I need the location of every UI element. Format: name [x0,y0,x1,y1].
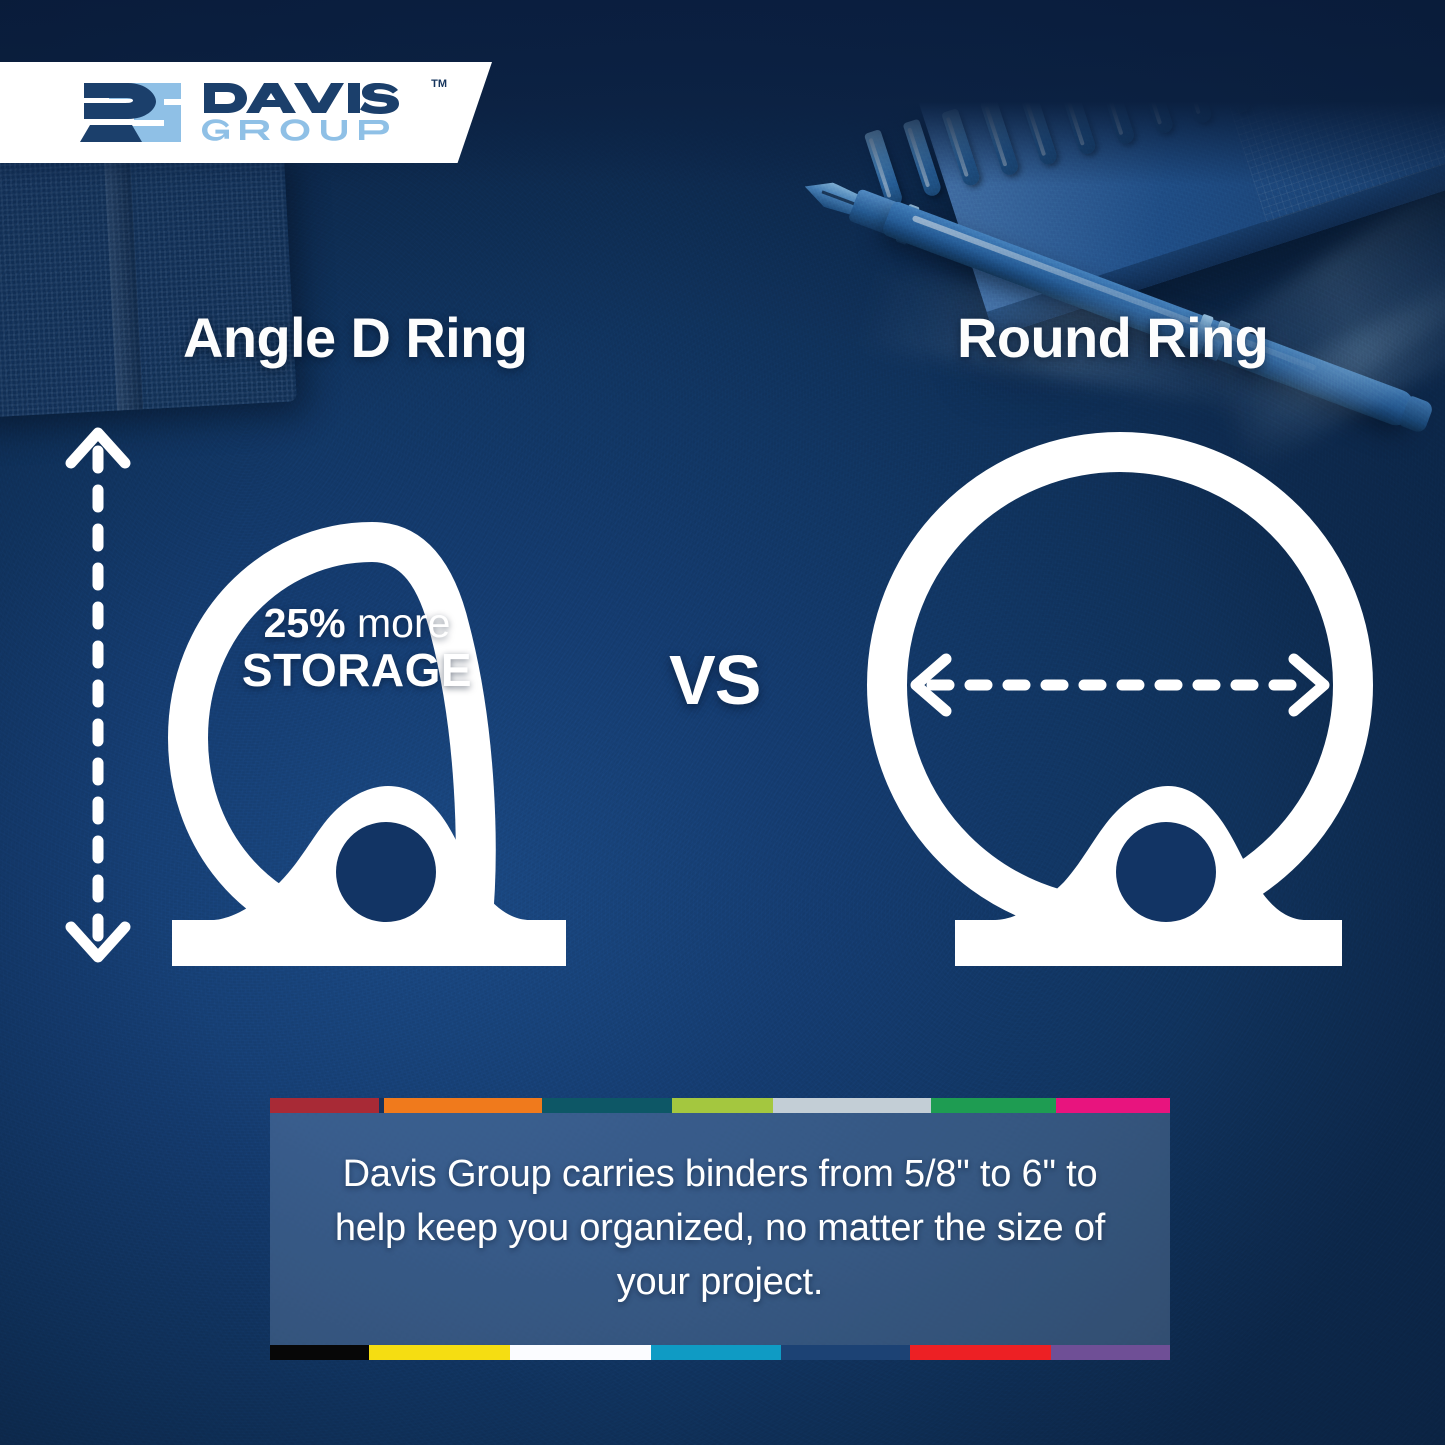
color-strip-segment [270,1345,369,1360]
caption-panel: Davis Group carries binders from 5/8" to… [270,1113,1170,1345]
color-strip-segment [781,1345,911,1360]
color-strip-segment [933,1098,1056,1113]
color-strip-segment [1051,1345,1169,1360]
color-strip-segment [910,1345,1051,1360]
storage-callout: 25% more STORAGE [232,603,482,693]
color-strip-segment [1056,1098,1170,1113]
brand-name-davis: TM [202,81,434,115]
storage-word: STORAGE [232,647,482,693]
color-strip-bottom [270,1345,1170,1360]
logo-lockup: TM [76,81,434,145]
brand-wordmark: TM [202,81,434,145]
caption-block: Davis Group carries binders from 5/8" to… [270,1098,1170,1360]
color-strip-segment [369,1345,510,1360]
color-strip-segment [651,1345,781,1360]
angle-d-ring-icon [120,430,640,975]
color-strip-segment [773,1098,798,1113]
trademark-symbol: TM [431,79,447,90]
color-strip-segment [674,1098,773,1113]
color-strip-top [270,1098,1170,1113]
color-strip-segment [384,1098,542,1113]
caption-text: Davis Group carries binders from 5/8" to… [270,1148,1170,1310]
dg-monogram-icon [76,81,188,144]
infographic-canvas: TM [0,0,1445,1445]
color-strip-segment [270,1098,379,1113]
round-ring-title: Round Ring [957,305,1268,370]
versus-label: VS [669,640,760,720]
brand-name-group [202,119,434,145]
color-strip-segment [510,1345,651,1360]
color-strip-segment [798,1098,931,1113]
storage-percent: 25% [264,600,346,646]
brand-logo-banner[interactable]: TM [0,62,492,163]
round-ring-icon [860,420,1390,975]
storage-more: more [346,600,451,646]
angle-d-ring-title: Angle D Ring [183,305,527,370]
color-strip-segment [542,1098,672,1113]
